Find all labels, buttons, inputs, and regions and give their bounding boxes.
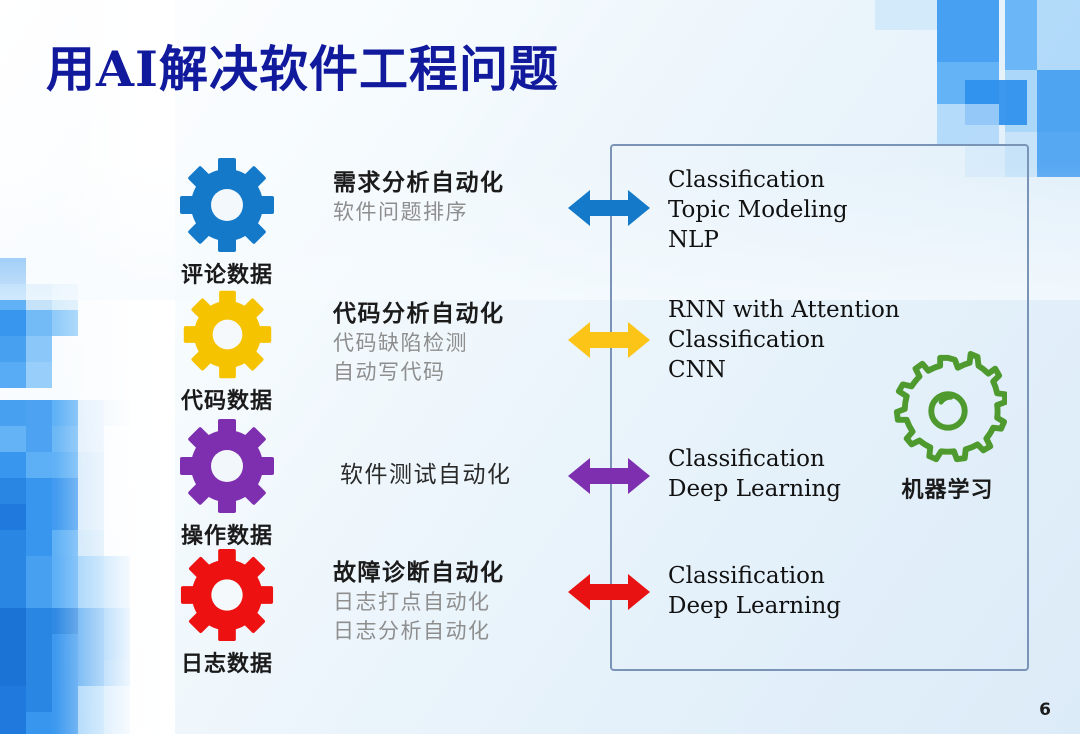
data-source-item-code[interactable]: 代码数据 [152, 288, 302, 415]
task-subitem: 代码缺陷检测 [333, 329, 505, 358]
slide-canvas: 用AI解决软件工程问题 评论数据 [0, 0, 1080, 734]
gear-icon [177, 546, 277, 644]
technique-line: CNN [668, 355, 900, 385]
technique-line: Classification [668, 165, 848, 195]
data-source-item-operation[interactable]: 操作数据 [152, 416, 302, 550]
technique-block-testing: Classification Deep Learning [668, 444, 841, 504]
gear-icon [176, 416, 278, 516]
double-arrow-code [568, 318, 650, 367]
machine-learning-label: 机器学习 [885, 472, 1010, 504]
gear-icon [176, 155, 278, 255]
page-number: 6 [1039, 700, 1051, 720]
task-block-code: 代码分析自动化 代码缺陷检测 自动写代码 [333, 299, 505, 387]
task-heading: 故障诊断自动化 [333, 558, 505, 588]
double-arrow-icon [568, 454, 650, 498]
task-heading: 代码分析自动化 [333, 299, 505, 329]
task-block-diagnosis: 故障诊断自动化 日志打点自动化 日志分析自动化 [333, 558, 505, 646]
data-source-label: 日志数据 [152, 646, 302, 678]
task-block-testing: 软件测试自动化 [340, 460, 512, 490]
machine-learning-item[interactable]: 机器学习 [885, 350, 1010, 504]
technique-line: Deep Learning [668, 591, 841, 621]
double-arrow-icon [568, 570, 650, 614]
technique-line: Classification [668, 444, 841, 474]
task-block-requirements: 需求分析自动化 软件问题排序 [333, 168, 505, 227]
double-arrow-icon [568, 318, 650, 362]
double-arrow-testing [568, 454, 650, 503]
task-subitem: 日志分析自动化 [333, 617, 505, 646]
technique-block-code: RNN with Attention Classification CNN [668, 295, 900, 385]
data-source-label: 评论数据 [152, 257, 302, 289]
task-subitem: 自动写代码 [333, 358, 505, 387]
technique-line: RNN with Attention [668, 295, 900, 325]
gear-icon [180, 288, 275, 381]
double-arrow-icon [568, 186, 650, 230]
technique-block-requirements: Classification Topic Modeling NLP [668, 165, 848, 255]
task-heading: 软件测试自动化 [340, 460, 512, 490]
technique-line: Topic Modeling [668, 195, 848, 225]
technique-line: Deep Learning [668, 474, 841, 504]
data-source-item-review[interactable]: 评论数据 [152, 155, 302, 289]
technique-line: Classification [668, 561, 841, 591]
technique-block-diagnosis: Classification Deep Learning [668, 561, 841, 621]
double-arrow-diagnosis [568, 570, 650, 619]
technique-line: Classification [668, 325, 900, 355]
data-source-item-log[interactable]: 日志数据 [152, 546, 302, 678]
task-heading: 需求分析自动化 [333, 168, 505, 198]
double-arrow-requirements [568, 186, 650, 235]
task-subitem: 软件问题排序 [333, 198, 505, 227]
gear-icon [889, 350, 1007, 468]
page-title: 用AI解决软件工程问题 [46, 30, 559, 101]
data-source-label: 代码数据 [152, 383, 302, 415]
decorative-mosaic-left [0, 0, 175, 734]
technique-line: NLP [668, 225, 848, 255]
task-subitem: 日志打点自动化 [333, 588, 505, 617]
